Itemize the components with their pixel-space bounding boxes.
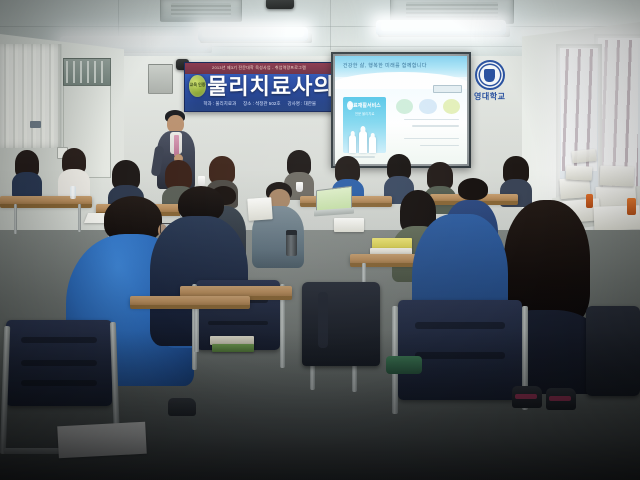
projection-screen: 건강한 삶, 행복한 미래를 함께합니다 의료재활서비스 전문 물리치료 — [331, 52, 471, 168]
orange-bottle-icon — [627, 198, 636, 215]
event-banner: 2013년 제3기 전문대학 육성사업 - 취업역량프로그램 교육 인증 물리치… — [184, 62, 334, 112]
banner-top-text: 2013년 제3기 전문대학 육성사업 - 취업역량프로그램 — [191, 64, 327, 73]
slide-header-text: 건강한 삶, 행복한 미래를 함께합니다 — [343, 61, 441, 71]
slide-tile-row — [396, 99, 462, 114]
backpack — [302, 282, 380, 366]
slide-left-panel: 의료재활서비스 전문 물리치료 — [343, 97, 387, 153]
green-bag — [386, 356, 422, 374]
paper-cup — [198, 176, 205, 186]
shoe — [168, 398, 196, 416]
slide-panel-title: 의료재활서비스 — [346, 102, 383, 110]
banner-details: 학과 : 물리치료과 장소 : 석정관 502호 강사명 : 대한물 — [191, 99, 329, 109]
banner-detail-item: 강사명 : 대한물 — [287, 101, 316, 107]
document-stack — [334, 218, 364, 232]
ceiling-light-fixture — [376, 20, 506, 35]
wall-panel-icon — [30, 121, 41, 128]
chair[interactable] — [6, 320, 112, 406]
slide-figure-icon — [349, 135, 356, 153]
backpack — [586, 306, 640, 396]
paper-sheet — [57, 422, 147, 459]
ceiling-light-fixture — [198, 27, 308, 41]
tumbler — [286, 230, 297, 256]
wall-control-box — [148, 64, 173, 94]
slide-tile-icon — [443, 99, 460, 114]
desk — [130, 296, 250, 306]
ac-vent-icon — [390, 0, 514, 24]
banner-detail-item: 학과 : 물리치료과 — [203, 101, 236, 107]
backpack-strap — [318, 292, 328, 348]
banner-headline: 물리치료사의 미래 — [207, 73, 331, 98]
banner-detail-item: 장소 : 석정관 502호 — [243, 101, 280, 107]
slide-figure-icon — [359, 131, 367, 153]
shoe — [512, 386, 542, 408]
projected-slide: 건강한 삶, 행복한 미래를 함께합니다 의료재활서비스 전문 물리치료 — [335, 56, 467, 164]
audience-member — [12, 150, 42, 196]
transom-window — [63, 58, 111, 86]
university-emblem: 영대학교 — [474, 60, 505, 102]
paper-stack — [566, 165, 593, 180]
university-seal-icon — [475, 60, 505, 90]
banner-emblem-icon: 교육 인증 — [189, 75, 207, 97]
chair[interactable] — [398, 300, 522, 400]
classroom-photo-scene: 2013년 제3기 전문대학 육성사업 - 취업역량프로그램 교육 인증 물리치… — [0, 0, 640, 480]
vertical-blinds — [0, 44, 60, 148]
ac-vent-icon — [160, 0, 242, 22]
slide-tile-icon — [419, 99, 436, 114]
slide-tile-icon — [396, 99, 413, 114]
shoe — [546, 388, 576, 410]
document-stack — [247, 197, 272, 221]
slide-panel-subtitle: 전문 물리치료 — [346, 111, 383, 117]
slide-figure-icon — [369, 136, 376, 153]
ceiling-speaker-icon — [266, 0, 294, 9]
book-stack — [212, 344, 254, 352]
paper-stack — [600, 165, 635, 186]
university-name-text: 영대학교 — [474, 91, 505, 102]
presenter-tie — [174, 135, 179, 156]
slide-url-bar — [433, 85, 461, 92]
paper-stack — [571, 149, 596, 163]
